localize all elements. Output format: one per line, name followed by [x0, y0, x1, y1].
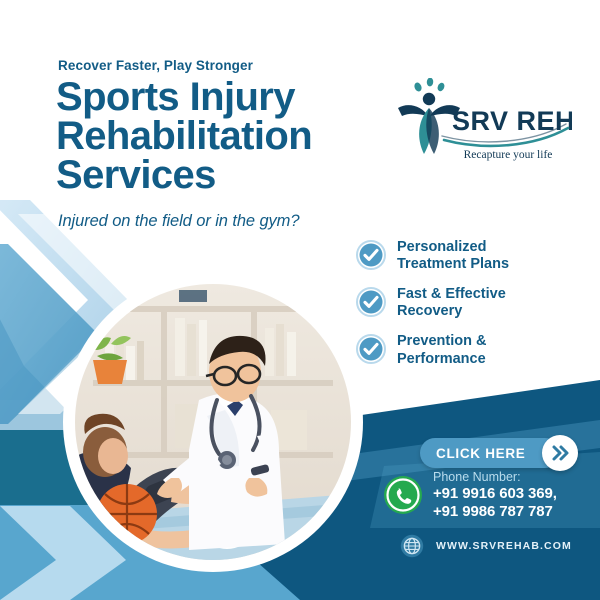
contact-phone-block: Phone Number: +91 9916 603 369, +91 9986…: [383, 470, 557, 520]
feature-item: Personalized Treatment Plans: [356, 238, 571, 273]
logo-tagline: Recapture your life: [464, 149, 553, 161]
cta-label: CLICK HERE: [436, 446, 526, 461]
whatsapp-icon[interactable]: [383, 475, 423, 515]
double-chevron-right-icon[interactable]: [542, 435, 578, 471]
phone-number-1[interactable]: +91 9916 603 369,: [433, 485, 557, 502]
click-here-button[interactable]: CLICK HERE: [420, 438, 560, 468]
check-circle-icon: [356, 240, 386, 270]
feature-line-2: Recovery: [397, 303, 506, 320]
page-title: Sports Injury Rehabilitation Services: [56, 78, 386, 196]
feature-item: Fast & Effective Recovery: [356, 285, 571, 320]
leaf-droplet-icon: [413, 78, 446, 93]
brand-logo: SRV REHAB Recapture your life: [392, 78, 572, 170]
poster-root: Recover Faster, Play Stronger Sports Inj…: [0, 0, 600, 600]
logo-wordmark: SRV REHAB: [452, 106, 572, 136]
website-url[interactable]: WWW.SRVREHAB.COM: [436, 540, 572, 552]
headline-line-2: Rehabilitation: [56, 117, 386, 156]
subheadline-text: Injured on the field or in the gym?: [58, 212, 299, 231]
feature-label: Prevention & Performance: [397, 332, 486, 367]
feature-line-1: Prevention &: [397, 333, 486, 350]
website-block[interactable]: WWW.SRVREHAB.COM: [400, 534, 572, 558]
check-circle-icon: [356, 287, 386, 317]
phone-number-2[interactable]: +91 9986 787 787: [433, 503, 557, 520]
headline-line-3: Services: [56, 156, 386, 195]
feature-label: Fast & Effective Recovery: [397, 285, 506, 320]
feature-line-2: Performance: [397, 351, 486, 368]
globe-icon: [400, 534, 424, 558]
headline-line-1: Sports Injury: [56, 78, 386, 117]
feature-item: Prevention & Performance: [356, 332, 571, 367]
feature-list: Personalized Treatment Plans Fast & Effe…: [356, 238, 571, 380]
phone-label: Phone Number:: [433, 470, 557, 484]
feature-line-1: Personalized: [397, 239, 509, 256]
feature-label: Personalized Treatment Plans: [397, 238, 509, 273]
feature-line-2: Treatment Plans: [397, 256, 509, 273]
logo-head: [423, 93, 435, 105]
phone-text-group: Phone Number: +91 9916 603 369, +91 9986…: [433, 470, 557, 520]
kicker-text: Recover Faster, Play Stronger: [58, 58, 253, 73]
check-circle-icon: [356, 334, 386, 364]
hero-photo-circle: [63, 272, 363, 572]
feature-line-1: Fast & Effective: [397, 286, 506, 303]
hero-photo: [75, 284, 351, 560]
